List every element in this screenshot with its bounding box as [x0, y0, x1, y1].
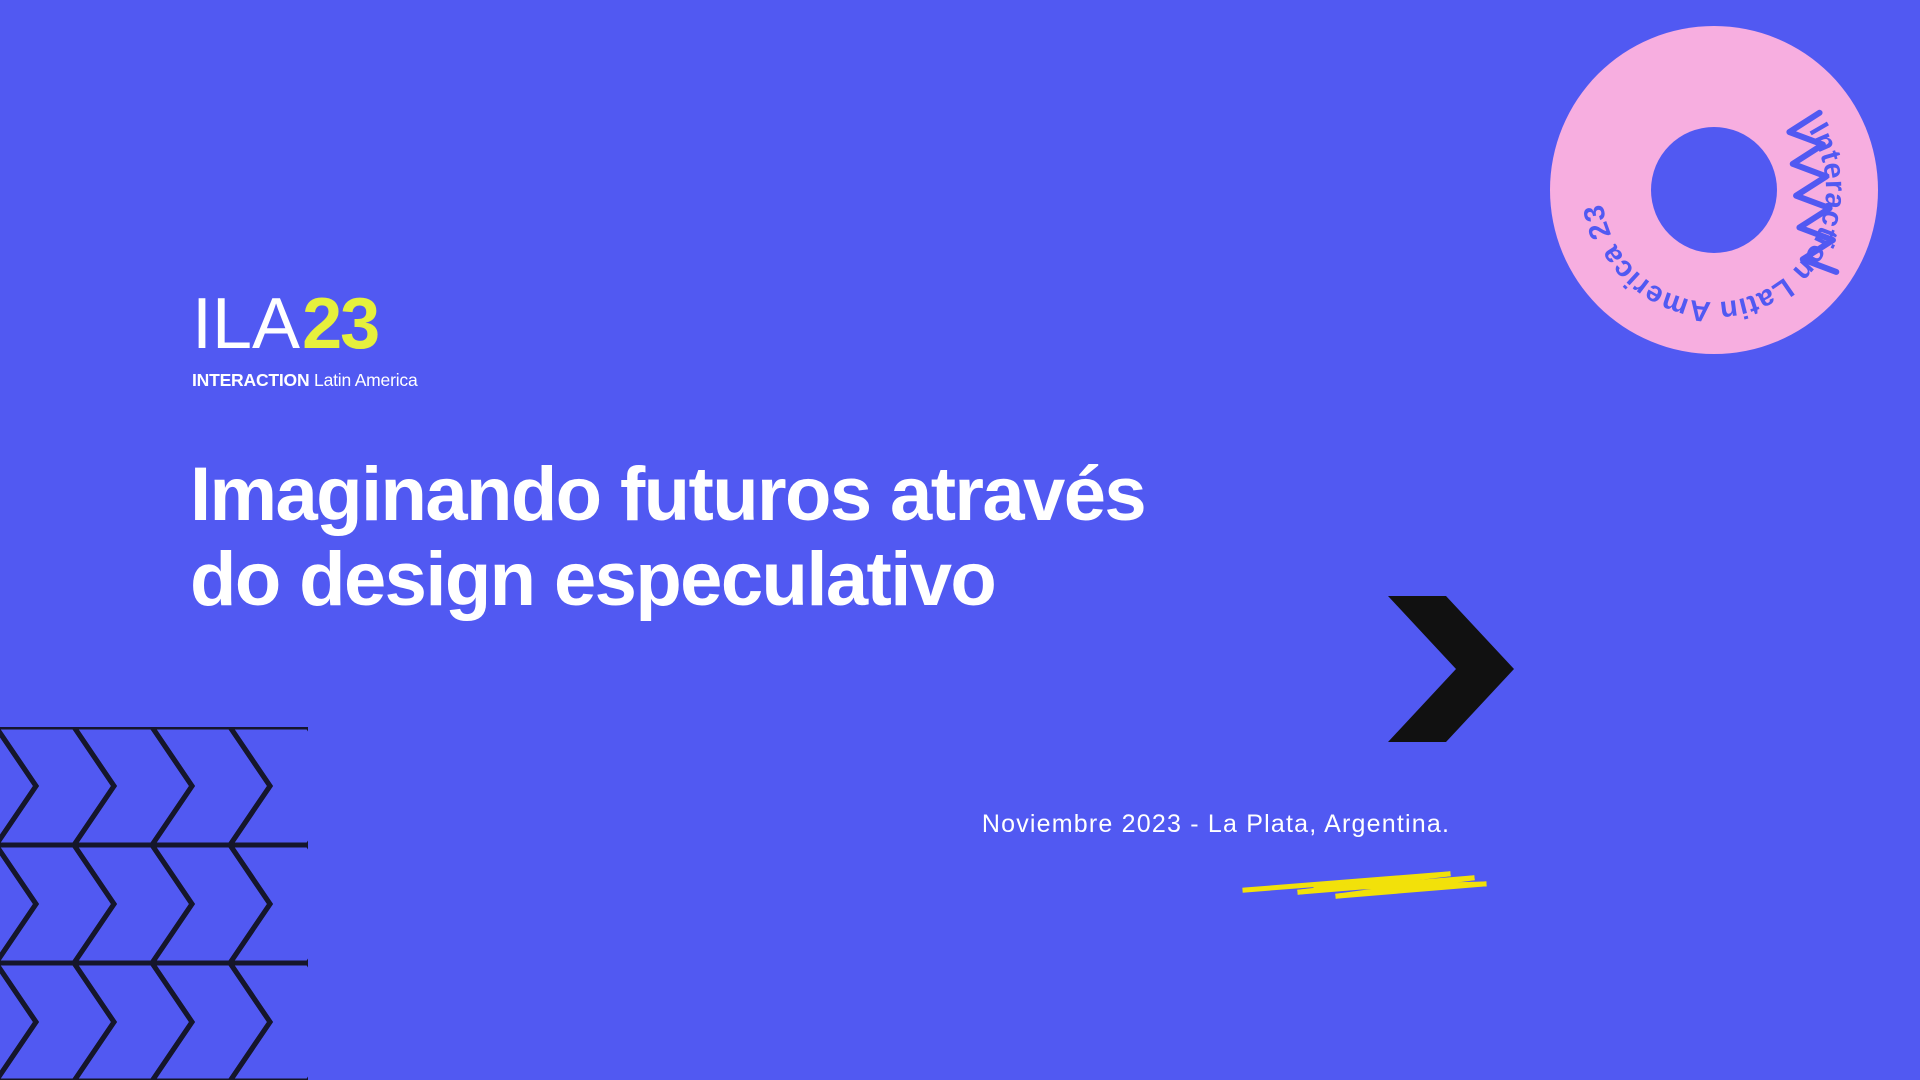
logo-wordmark: ILA 23: [192, 288, 417, 360]
yellow-scribble-underline: [1240, 866, 1490, 906]
page-title: Imaginando futuros através do design esp…: [190, 452, 1350, 622]
headline-line-2: do design especulativo: [190, 537, 1350, 622]
logo-subtitle-regular: Latin America: [309, 370, 417, 390]
seal-inner-hole: [1651, 127, 1777, 253]
circular-seal-badge: Interaction Latin America 23: [1550, 26, 1878, 354]
logo-ila-text: ILA: [192, 288, 300, 360]
logo-subtitle-bold: INTERACTION: [192, 370, 309, 390]
poster-canvas: Interaction Latin America 23 ILA 23 INTE…: [0, 0, 1920, 1080]
logo-subtitle: INTERACTION Latin America: [192, 370, 417, 391]
ila23-logo: ILA 23 INTERACTION Latin America: [192, 288, 417, 391]
event-dateline: Noviembre 2023 - La Plata, Argentina.: [916, 810, 1516, 839]
headline-line-1: Imaginando futuros através: [190, 452, 1350, 537]
chevron-right-icon: [1384, 594, 1516, 744]
logo-year-text: 23: [302, 288, 378, 360]
chevron-arrow-pattern: [0, 727, 308, 1080]
